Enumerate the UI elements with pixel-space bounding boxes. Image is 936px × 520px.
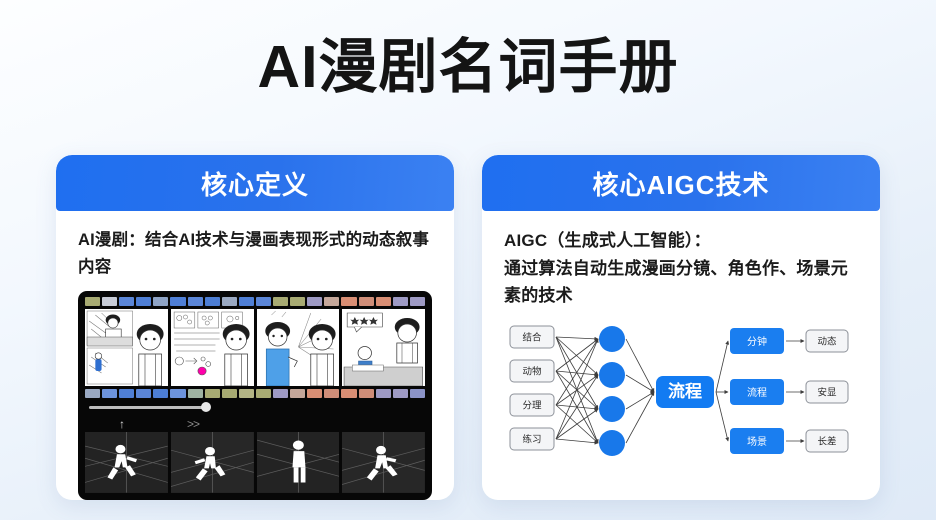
walk-frame-2 bbox=[171, 432, 254, 493]
sprocket-bottom-17 bbox=[359, 389, 374, 398]
input-node-label-3: 分理 bbox=[522, 400, 542, 411]
comic-panel-1 bbox=[85, 309, 168, 386]
comic-panel-2 bbox=[171, 309, 254, 386]
definition-text: AI漫剧：结合AI技术与漫画表现形式的动态叙事内容 bbox=[78, 227, 432, 280]
card-header-core-definition: 核心定义 bbox=[56, 155, 454, 211]
sprocket-bottom-8 bbox=[205, 389, 220, 398]
sprocket-top-18 bbox=[376, 297, 391, 306]
sprocket-bottom-19 bbox=[393, 389, 408, 398]
output-node-label-1: 动态 bbox=[817, 335, 837, 347]
input-node-label-4: 练习 bbox=[522, 433, 541, 445]
aigc-text: AIGC（生成式人工智能）： 通过算法自动生成漫画分镜、角色作、场景元素的技术 bbox=[504, 227, 858, 310]
comic-panel-4 bbox=[342, 309, 425, 386]
edge-hub-mid bbox=[716, 392, 728, 441]
diagram-svg: 结合动物分理练习 流程 分钟流程场景 动态安显长差 bbox=[504, 319, 858, 500]
film-strip-illustration: ↑ >> bbox=[78, 291, 432, 500]
mid-node-label-3: 场景 bbox=[747, 435, 767, 448]
card-body-core-aigc-tech: AIGC（生成式人工智能）： 通过算法自动生成漫画分镜、角色作、场景元素的技术 … bbox=[482, 211, 880, 500]
edge-hidden-hub bbox=[626, 392, 654, 443]
sprocket-top-10 bbox=[239, 297, 254, 306]
edge-input-hidden bbox=[556, 337, 598, 375]
film-sprockets-top bbox=[85, 297, 425, 306]
sprocket-top-19 bbox=[393, 297, 408, 306]
slider-knob[interactable] bbox=[201, 402, 211, 412]
hidden-node-4 bbox=[599, 430, 625, 456]
edge-hidden-hub bbox=[626, 392, 654, 409]
slider-track[interactable] bbox=[89, 406, 207, 409]
sprocket-top-9 bbox=[222, 297, 237, 306]
card-body-core-definition: AI漫剧：结合AI技术与漫画表现形式的动态叙事内容 bbox=[56, 211, 454, 500]
sprocket-top-14 bbox=[307, 297, 322, 306]
sprocket-bottom-14 bbox=[307, 389, 322, 398]
sprocket-top-1 bbox=[85, 297, 100, 306]
sprocket-bottom-6 bbox=[170, 389, 185, 398]
playback-controls: ↑ >> bbox=[85, 416, 425, 432]
sprocket-top-3 bbox=[119, 297, 134, 306]
sprocket-bottom-20 bbox=[410, 389, 425, 398]
comic-panel-3 bbox=[257, 309, 340, 386]
input-node-label-1: 结合 bbox=[522, 331, 542, 343]
hidden-node-1 bbox=[599, 326, 625, 352]
up-arrow-icon[interactable]: ↑ bbox=[119, 417, 125, 431]
edge-input-hidden bbox=[556, 375, 598, 439]
edge-hub-mid bbox=[716, 341, 728, 392]
output-node-label-2: 安显 bbox=[817, 386, 837, 398]
hidden-node-3 bbox=[599, 396, 625, 422]
sprocket-bottom-10 bbox=[239, 389, 254, 398]
sprocket-top-20 bbox=[410, 297, 425, 306]
neural-flow-diagram: 结合动物分理练习 流程 分钟流程场景 动态安显长差 bbox=[504, 319, 858, 500]
sprocket-bottom-7 bbox=[188, 389, 203, 398]
output-node-label-3: 长差 bbox=[817, 435, 836, 447]
sprocket-bottom-5 bbox=[153, 389, 168, 398]
sprocket-top-11 bbox=[256, 297, 271, 306]
hub-node-label: 流程 bbox=[668, 381, 702, 401]
sprocket-top-6 bbox=[170, 297, 185, 306]
card-core-aigc-tech: 核心AIGC技术 AIGC（生成式人工智能）： 通过算法自动生成漫画分镜、角色作… bbox=[482, 155, 880, 500]
sprocket-top-16 bbox=[341, 297, 356, 306]
sprocket-top-12 bbox=[273, 297, 288, 306]
comic-panel-row bbox=[85, 309, 425, 386]
sprocket-bottom-2 bbox=[102, 389, 117, 398]
sprocket-top-13 bbox=[290, 297, 305, 306]
sprocket-bottom-18 bbox=[376, 389, 391, 398]
film-sprockets-bottom bbox=[85, 389, 425, 398]
sprocket-top-2 bbox=[102, 297, 117, 306]
sprocket-bottom-11 bbox=[256, 389, 271, 398]
sprocket-top-5 bbox=[153, 297, 168, 306]
edge-hidden-hub bbox=[626, 339, 654, 392]
card-header-core-aigc-tech: 核心AIGC技术 bbox=[482, 155, 880, 211]
sprocket-top-8 bbox=[205, 297, 220, 306]
hidden-node-2 bbox=[599, 362, 625, 388]
card-container: 核心定义 AI漫剧：结合AI技术与漫画表现形式的动态叙事内容 bbox=[0, 155, 936, 500]
sprocket-top-15 bbox=[324, 297, 339, 306]
sprocket-top-17 bbox=[359, 297, 374, 306]
card-core-definition: 核心定义 AI漫剧：结合AI技术与漫画表现形式的动态叙事内容 bbox=[56, 155, 454, 500]
input-node-label-2: 动物 bbox=[522, 365, 542, 377]
sprocket-top-4 bbox=[136, 297, 151, 306]
sprocket-bottom-4 bbox=[136, 389, 151, 398]
sprocket-bottom-16 bbox=[341, 389, 356, 398]
sprocket-bottom-12 bbox=[273, 389, 288, 398]
page-title: AI漫剧名词手册 bbox=[0, 0, 936, 99]
edge-input-hidden bbox=[556, 439, 598, 443]
walk-frame-3 bbox=[257, 432, 340, 493]
sprocket-bottom-13 bbox=[290, 389, 305, 398]
sprocket-bottom-15 bbox=[324, 389, 339, 398]
sprocket-bottom-9 bbox=[222, 389, 237, 398]
mid-node-label-1: 分钟 bbox=[747, 335, 767, 348]
walk-frame-1 bbox=[85, 432, 168, 493]
walk-cycle-row bbox=[85, 432, 425, 493]
sprocket-bottom-3 bbox=[119, 389, 134, 398]
walk-frame-4 bbox=[342, 432, 425, 493]
sprocket-top-7 bbox=[188, 297, 203, 306]
sprocket-bottom-1 bbox=[85, 389, 100, 398]
mid-node-label-2: 流程 bbox=[747, 386, 767, 399]
edge-input-hidden bbox=[556, 337, 598, 339]
fast-forward-icon[interactable]: >> bbox=[187, 417, 199, 431]
timeline-slider[interactable] bbox=[85, 398, 425, 416]
